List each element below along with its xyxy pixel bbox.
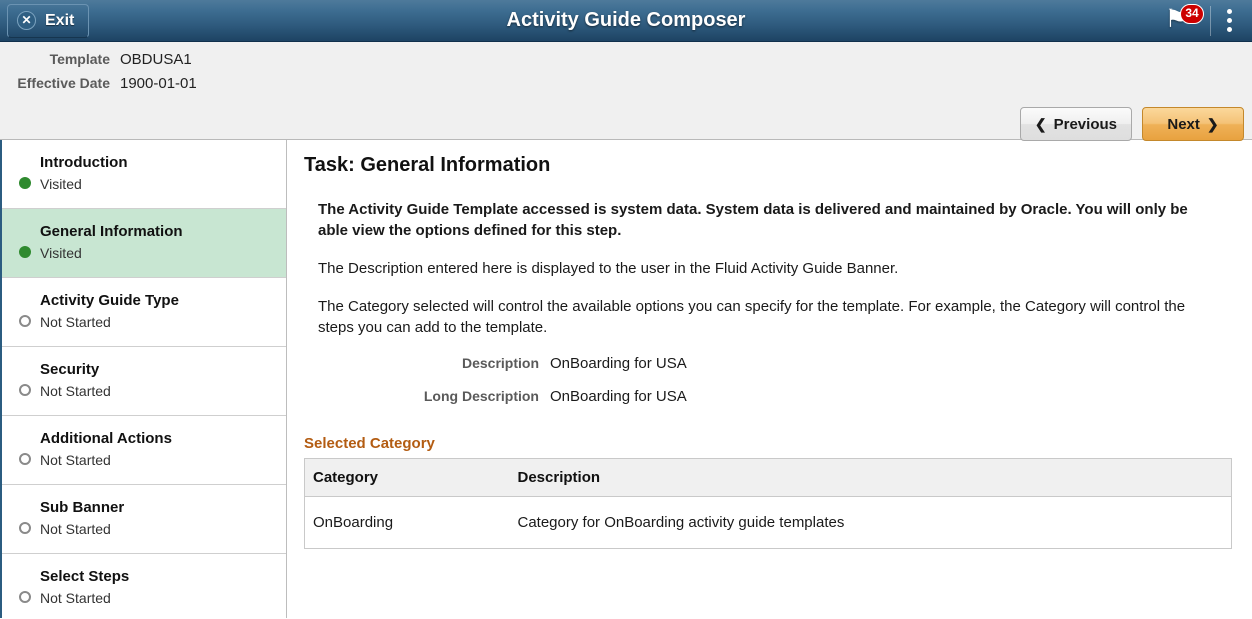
table-cell: OnBoarding: [305, 497, 510, 549]
selected-category-table: Category Description OnBoardingCategory …: [304, 458, 1232, 549]
sidebar-item-status: Visited: [40, 244, 276, 262]
field-row: DescriptionOnBoarding for USA: [304, 355, 1232, 388]
instruction-paragraph: The Category selected will control the a…: [318, 296, 1218, 338]
step-navigation-sidebar: IntroductionVisitedGeneral InformationVi…: [0, 140, 287, 618]
sidebar-item-status: Not Started: [40, 382, 276, 400]
field-value: OnBoarding for USA: [550, 388, 687, 405]
sidebar-item-status: Not Started: [40, 589, 276, 607]
previous-button[interactable]: ❮ Previous: [1020, 107, 1132, 141]
notifications-button[interactable]: ⚑ 34: [1152, 0, 1206, 41]
app-header: ✕ Exit Activity Guide Composer ⚑ 34: [0, 0, 1252, 42]
sidebar-item-label: Introduction: [40, 154, 276, 172]
template-label: Template: [0, 51, 110, 67]
header-actions: ⚑ 34: [1152, 0, 1252, 41]
table-body: OnBoardingCategory for OnBoarding activi…: [305, 497, 1232, 549]
column-header-category[interactable]: Category: [305, 459, 510, 497]
sidebar-item-label: General Information: [40, 223, 276, 241]
exit-button-label: Exit: [45, 12, 74, 30]
kebab-dot: [1227, 18, 1232, 23]
step-status-not-started-icon: [19, 522, 31, 534]
table-header-row: Category Description: [305, 459, 1232, 497]
step-status-not-started-icon: [19, 591, 31, 603]
template-row: Template OBDUSA1: [0, 51, 1252, 75]
close-x-icon: ✕: [17, 11, 36, 30]
header-divider: [1210, 6, 1211, 36]
task-title: Task: General Information: [304, 154, 1232, 177]
selected-category-heading: Selected Category: [304, 435, 1232, 452]
kebab-menu-icon[interactable]: [1215, 0, 1243, 41]
table-cell: Category for OnBoarding activity guide t…: [510, 497, 1232, 549]
sidebar-item-sub-banner[interactable]: Sub BannerNot Started: [2, 485, 286, 554]
previous-button-label: Previous: [1054, 116, 1117, 133]
sidebar-item-status: Not Started: [40, 451, 276, 469]
sidebar-item-select-steps[interactable]: Select StepsNot Started: [2, 554, 286, 618]
next-button[interactable]: Next ❯: [1142, 107, 1244, 141]
sidebar-item-label: Sub Banner: [40, 499, 276, 517]
step-status-not-started-icon: [19, 384, 31, 396]
sidebar-item-additional-actions[interactable]: Additional ActionsNot Started: [2, 416, 286, 485]
template-subheader: Template OBDUSA1 Effective Date 1900-01-…: [0, 42, 1252, 140]
step-status-not-started-icon: [19, 315, 31, 327]
step-status-visited-icon: [19, 246, 31, 258]
sidebar-item-introduction[interactable]: IntroductionVisited: [2, 140, 286, 209]
sidebar-item-label: Additional Actions: [40, 430, 276, 448]
sidebar-item-label: Security: [40, 361, 276, 379]
instruction-paragraph: The Description entered here is displaye…: [318, 258, 1218, 279]
field-label: Long Description: [304, 388, 539, 404]
page-title: Activity Guide Composer: [0, 9, 1252, 32]
step-status-visited-icon: [19, 177, 31, 189]
kebab-dot: [1227, 9, 1232, 14]
notification-badge: 34: [1180, 4, 1204, 24]
column-header-description[interactable]: Description: [510, 459, 1232, 497]
sidebar-item-general-information[interactable]: General InformationVisited: [2, 209, 286, 278]
step-status-not-started-icon: [19, 453, 31, 465]
sidebar-item-status: Not Started: [40, 520, 276, 538]
next-button-label: Next: [1167, 116, 1200, 133]
table-header: Category Description: [305, 459, 1232, 497]
template-value: OBDUSA1: [120, 51, 192, 68]
instructions-block: The Activity Guide Template accessed is …: [304, 199, 1232, 338]
effective-date-label: Effective Date: [0, 75, 110, 91]
sidebar-item-security[interactable]: SecurityNot Started: [2, 347, 286, 416]
sidebar-item-label: Activity Guide Type: [40, 292, 276, 310]
effective-date-row: Effective Date 1900-01-01: [0, 75, 1252, 99]
instruction-paragraph: The Activity Guide Template accessed is …: [318, 199, 1218, 241]
field-list: DescriptionOnBoarding for USALong Descri…: [304, 355, 1232, 421]
page-body: IntroductionVisitedGeneral InformationVi…: [0, 140, 1252, 618]
field-value: OnBoarding for USA: [550, 355, 687, 372]
wizard-navigation: ❮ Previous Next ❯: [1020, 107, 1244, 141]
sidebar-item-status: Visited: [40, 175, 276, 193]
sidebar-item-label: Select Steps: [40, 568, 276, 586]
chevron-left-icon: ❮: [1035, 116, 1047, 133]
exit-button[interactable]: ✕ Exit: [7, 4, 89, 38]
chevron-right-icon: ❯: [1207, 116, 1219, 133]
sidebar-item-activity-guide-type[interactable]: Activity Guide TypeNot Started: [2, 278, 286, 347]
template-meta: Template OBDUSA1 Effective Date 1900-01-…: [0, 42, 1252, 99]
kebab-dot: [1227, 27, 1232, 32]
table-row[interactable]: OnBoardingCategory for OnBoarding activi…: [305, 497, 1232, 549]
field-label: Description: [304, 355, 539, 371]
main-content: Task: General Information The Activity G…: [287, 140, 1252, 618]
effective-date-value: 1900-01-01: [120, 75, 197, 92]
field-row: Long DescriptionOnBoarding for USA: [304, 388, 1232, 421]
sidebar-item-status: Not Started: [40, 313, 276, 331]
